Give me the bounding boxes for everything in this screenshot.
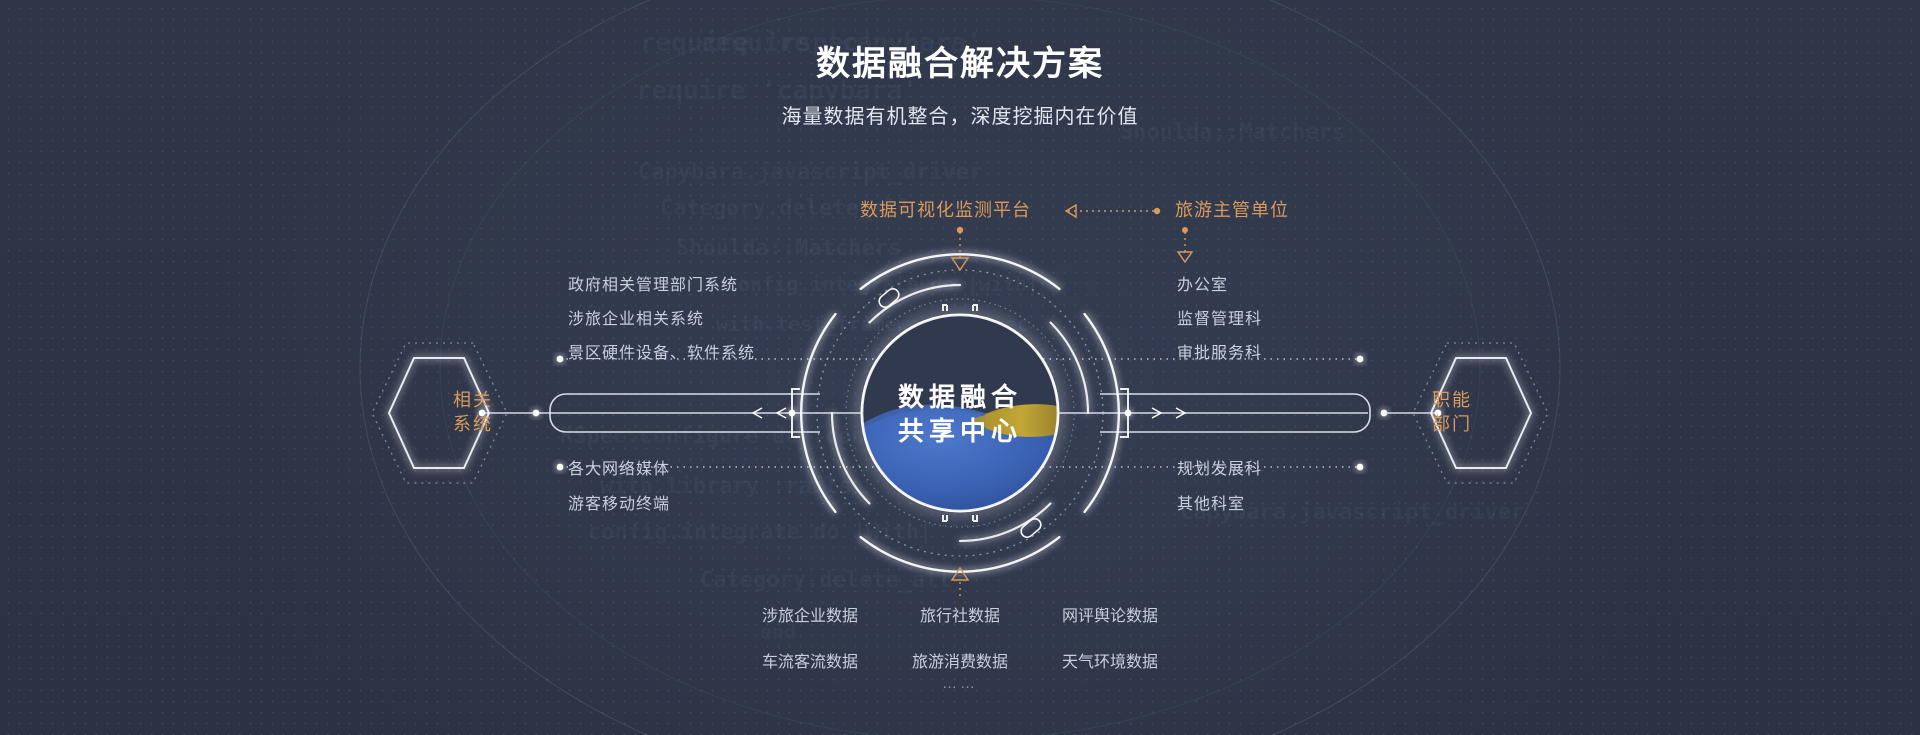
hexagon-left-line2: 系统	[418, 412, 528, 436]
list-item[interactable]: 各大网络媒体	[568, 462, 670, 478]
bottom-ellipsis: ……	[735, 675, 1185, 692]
page-title: 数据融合解决方案	[0, 36, 1920, 85]
left-bottom-system-list: 各大网络媒体 游客移动终端	[568, 462, 670, 532]
node-visualization-platform[interactable]: 数据可视化监测平台	[860, 196, 1031, 222]
list-item[interactable]: 政府相关管理部门系统	[568, 278, 755, 294]
infographic-canvas: require 'rspec' require 'capybara' requi…	[0, 0, 1920, 735]
node-tourism-authority[interactable]: 旅游主管单位	[1175, 196, 1289, 222]
top-right-dot	[1154, 208, 1160, 214]
arc-marker-topleft	[877, 286, 902, 309]
list-item[interactable]: 审批服务科	[1177, 346, 1262, 362]
page-subtitle: 海量数据有机整合，深度挖掘内在价值	[0, 100, 1920, 129]
center-line1: 数据融合	[810, 380, 1110, 414]
list-item[interactable]: 旅行社数据	[885, 602, 1035, 626]
list-item[interactable]: 车流客流数据	[735, 648, 885, 672]
list-item[interactable]: 网评舆论数据	[1035, 602, 1185, 626]
hexagon-right-label: 职能 部门	[1397, 388, 1507, 436]
list-item[interactable]: 涉旅企业数据	[735, 602, 885, 626]
list-item[interactable]: 天气环境数据	[1035, 648, 1185, 672]
right-bottom-department-list: 规划发展科 其他科室	[1177, 462, 1262, 532]
bottom-data-source-grid: 涉旅企业数据 旅行社数据 网评舆论数据 车流客流数据 旅游消费数据 天气环境数据	[735, 602, 1185, 672]
authority-connector-dot	[1182, 227, 1188, 233]
list-item[interactable]: 景区硬件设备、软件系统	[568, 346, 755, 362]
list-item[interactable]: 游客移动终端	[568, 497, 670, 513]
list-item[interactable]: 其他科室	[1177, 497, 1262, 513]
center-core-label: 数据融合 共享中心	[810, 380, 1110, 448]
list-item[interactable]: 涉旅企业相关系统	[568, 312, 755, 328]
hexagon-right-line2: 部门	[1397, 412, 1507, 436]
hexagon-left-label: 相关 系统	[418, 388, 528, 436]
center-line2: 共享中心	[810, 414, 1110, 448]
platform-down-arrow	[952, 258, 968, 270]
list-item[interactable]: 旅游消费数据	[885, 648, 1035, 672]
platform-connector-dot	[957, 227, 963, 233]
list-item[interactable]: 规划发展科	[1177, 462, 1262, 478]
bottom-up-arrow	[952, 568, 968, 580]
list-item[interactable]: 办公室	[1177, 278, 1262, 294]
hexagon-right-line1: 职能	[1397, 388, 1507, 412]
list-item[interactable]: 监督管理科	[1177, 312, 1262, 328]
authority-down-arrow	[1178, 252, 1192, 262]
hexagon-left-line1: 相关	[418, 388, 528, 412]
arc-marker-bottomright	[1019, 516, 1044, 539]
right-top-department-list: 办公室 监督管理科 审批服务科	[1177, 278, 1262, 380]
left-top-system-list: 政府相关管理部门系统 涉旅企业相关系统 景区硬件设备、软件系统	[568, 278, 755, 380]
